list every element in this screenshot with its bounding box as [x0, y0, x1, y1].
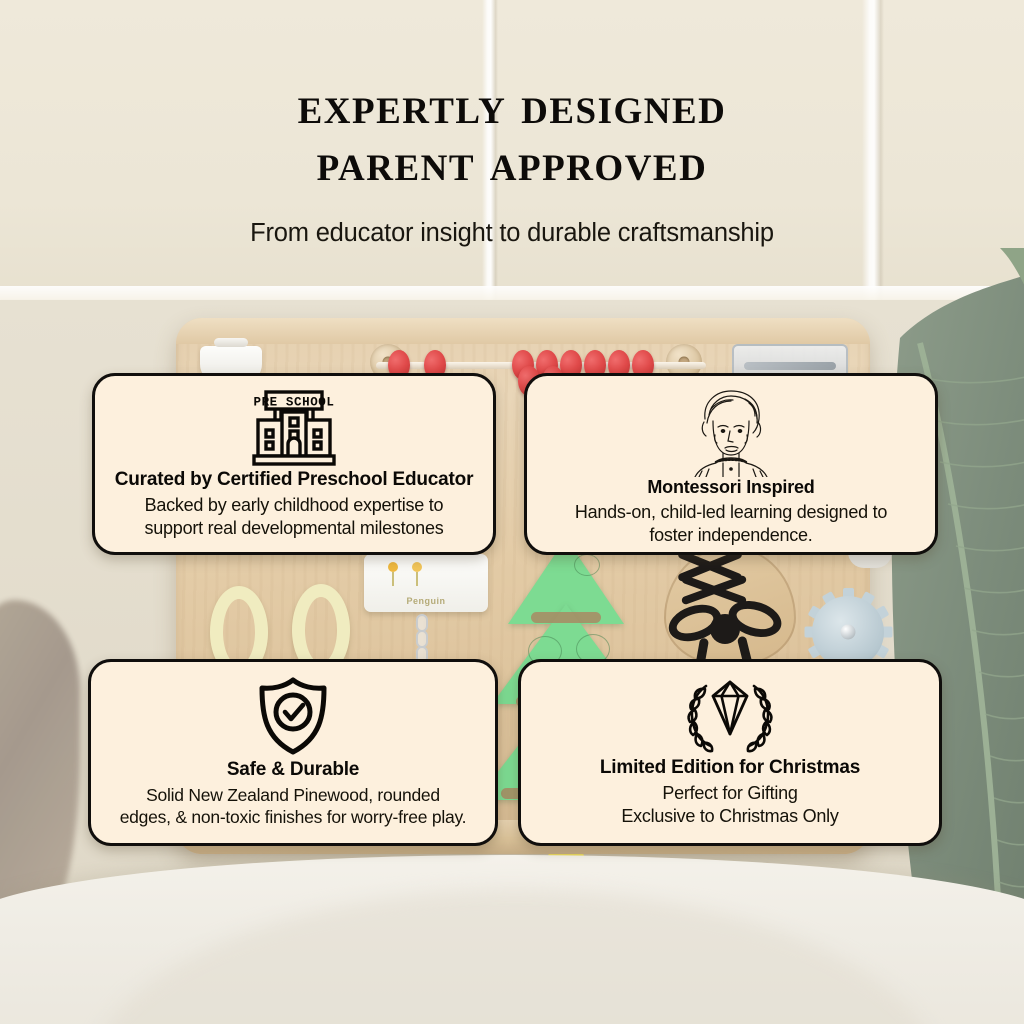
card-title: Montessori Inspired: [647, 477, 814, 499]
feature-card-limited-edition-for-christmas[interactable]: Limited Edition for Christmas Perfect fo…: [518, 659, 942, 846]
card-title: Curated by Certified Preschool Educator: [115, 469, 474, 492]
feature-cards-grid: PRE SCHOOL Curated by Certified Preschoo…: [0, 0, 1024, 1024]
card-body-line: Backed by early childhood expertise to: [145, 494, 444, 517]
feature-card-montessori-inspired[interactable]: Montessori Inspired Hands-on, child-led …: [524, 373, 938, 555]
card-body: Solid New Zealand Pinewood, rounded edge…: [120, 784, 467, 829]
card-body-line: Hands-on, child-led learning designed to: [575, 501, 887, 524]
card-body: Hands-on, child-led learning designed to…: [575, 501, 887, 547]
diamond-laurel-icon: [680, 675, 780, 755]
feature-card-safe-and-durable[interactable]: Safe & Durable Solid New Zealand Pinewoo…: [88, 659, 498, 846]
shield-check-icon: [254, 675, 332, 757]
card-body-line: support real developmental milestones: [145, 517, 444, 540]
svg-text:PRE SCHOOL: PRE SCHOOL: [253, 396, 334, 410]
card-body-line: Exclusive to Christmas Only: [621, 805, 838, 828]
card-body-line: Perfect for Gifting: [621, 782, 838, 805]
montessori-portrait-icon: [685, 389, 777, 477]
school-building-icon: PRE SCHOOL: [242, 389, 346, 467]
card-title: Limited Edition for Christmas: [600, 757, 860, 780]
card-body-line: Solid New Zealand Pinewood, rounded: [120, 784, 467, 806]
card-body-line: foster independence.: [575, 524, 887, 547]
card-body: Perfect for Gifting Exclusive to Christm…: [621, 782, 838, 828]
feature-card-curated-by-certified-preschool-educator[interactable]: PRE SCHOOL Curated by Certified Preschoo…: [92, 373, 496, 555]
card-body-line: edges, & non-toxic finishes for worry-fr…: [120, 806, 467, 828]
card-body: Backed by early childhood expertise to s…: [145, 494, 444, 540]
card-title: Safe & Durable: [227, 759, 359, 782]
